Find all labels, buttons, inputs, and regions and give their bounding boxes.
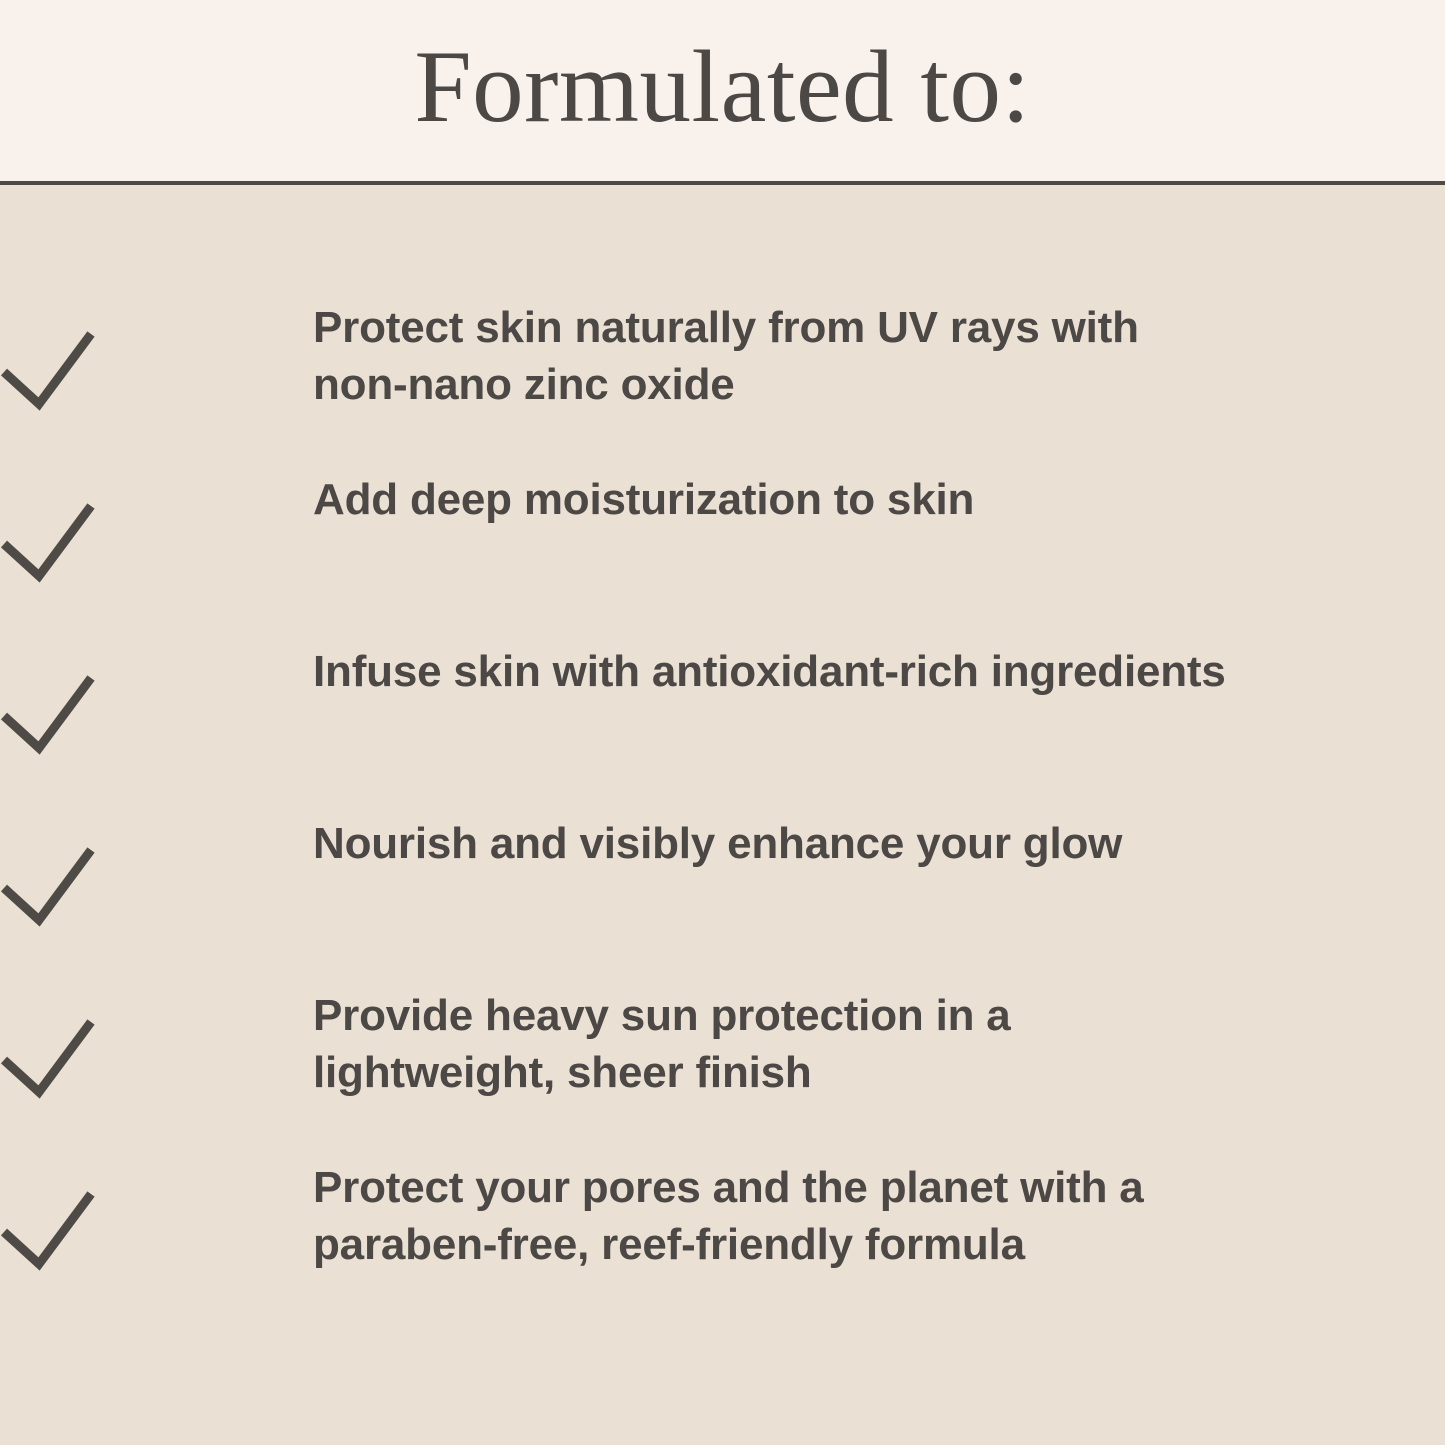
checkmark-icon xyxy=(0,328,95,413)
checkmark-icon xyxy=(0,844,95,929)
list-item: Provide heavy sun protection in a lightw… xyxy=(0,981,1445,1153)
list-item: Protect skin naturally from UV rays with… xyxy=(0,293,1445,465)
list-item: Nourish and visibly enhance your glow xyxy=(0,809,1445,981)
checkmark-icon xyxy=(0,672,95,757)
list-item: Infuse skin with antioxidant-rich ingred… xyxy=(0,637,1445,809)
list-item-label: Nourish and visibly enhance your glow xyxy=(313,815,1323,872)
list-item-label: Provide heavy sun protection in a lightw… xyxy=(313,987,1323,1101)
list-item: Add deep moisturization to skin xyxy=(0,465,1445,637)
list-item-label: Add deep moisturization to skin xyxy=(313,471,1323,528)
list-item-label: Infuse skin with antioxidant-rich ingred… xyxy=(313,643,1373,700)
page-title: Formulated to: xyxy=(414,36,1030,139)
list-item-label: Protect your pores and the planet with a… xyxy=(313,1159,1323,1273)
list-item-label: Protect skin naturally from UV rays with… xyxy=(313,299,1323,413)
checkmark-icon xyxy=(0,1188,95,1273)
formulated-to-panel: Formulated to: Protect skin naturally fr… xyxy=(0,0,1445,1445)
benefits-list: Protect skin naturally from UV rays with… xyxy=(0,185,1445,1445)
header-banner: Formulated to: xyxy=(0,0,1445,181)
checkmark-icon xyxy=(0,500,95,585)
list-item: Protect your pores and the planet with a… xyxy=(0,1153,1445,1325)
checkmark-icon xyxy=(0,1016,95,1101)
